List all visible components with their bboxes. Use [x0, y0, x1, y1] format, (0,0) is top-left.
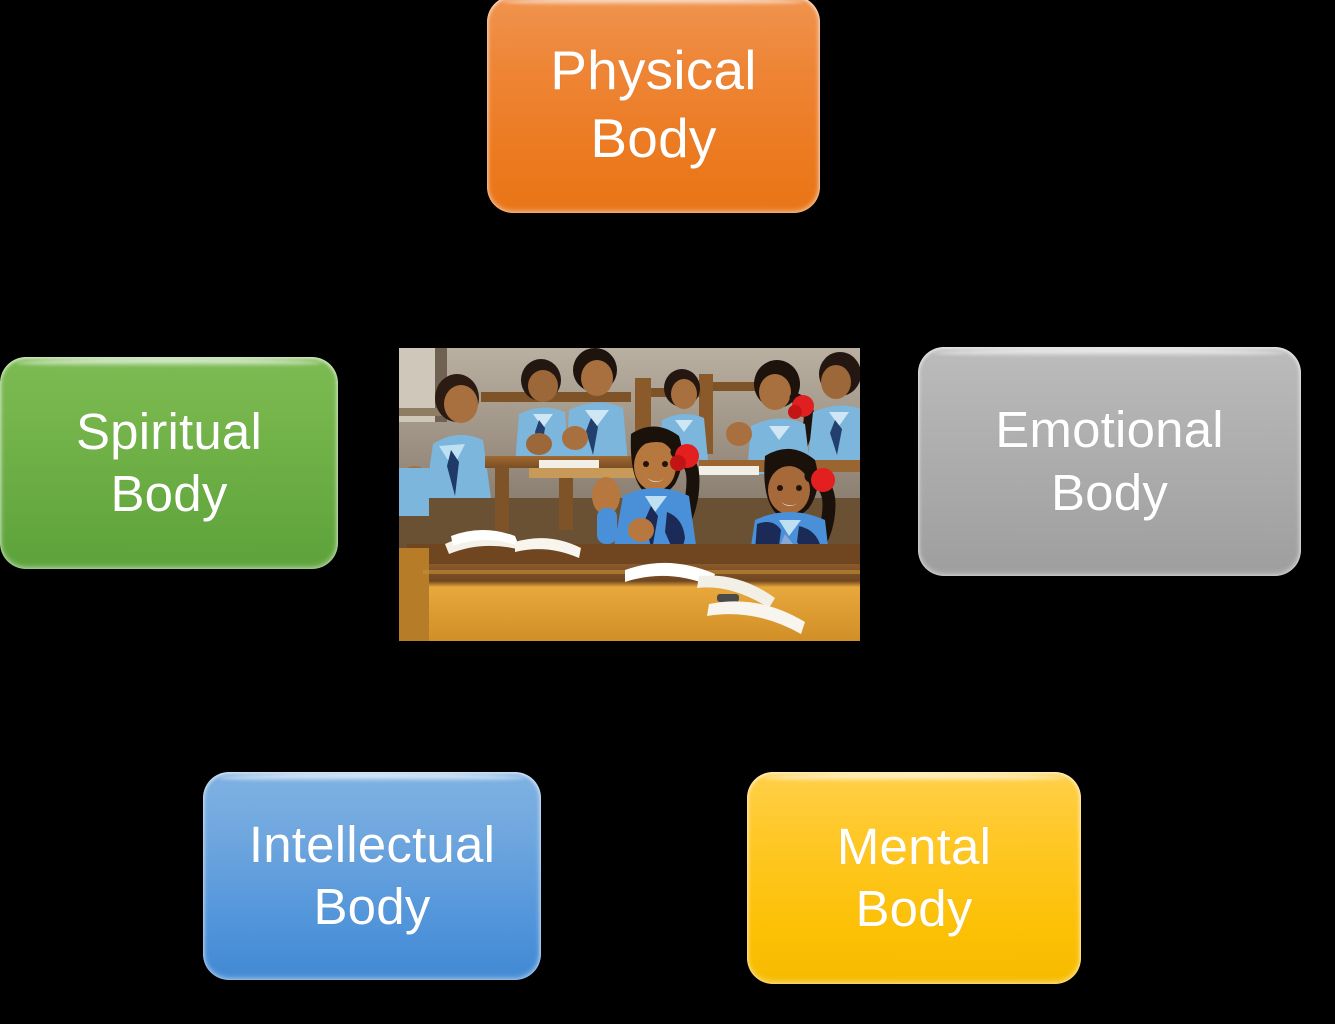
node-physical-body[interactable]: PhysicalBody: [487, 0, 820, 213]
classroom-photo: [399, 348, 860, 641]
node-emotional-body-label: EmotionalBody: [985, 399, 1234, 523]
node-intellectual-body-line2: Body: [313, 878, 430, 935]
node-mental-body-label: MentalBody: [827, 816, 1001, 940]
node-emotional-body-line2: Body: [1051, 464, 1168, 521]
node-emotional-body-line1: Emotional: [995, 401, 1224, 458]
node-intellectual-body-line1: Intellectual: [249, 816, 495, 873]
node-mental-body[interactable]: MentalBody: [747, 772, 1081, 984]
node-spiritual-body-line2: Body: [110, 465, 227, 522]
node-physical-body-line2: Body: [590, 107, 716, 169]
node-spiritual-body-label: SpiritualBody: [66, 401, 272, 525]
node-mental-body-line2: Body: [855, 880, 972, 937]
node-spiritual-body-line1: Spiritual: [76, 403, 262, 460]
node-mental-body-line1: Mental: [837, 818, 991, 875]
node-emotional-body[interactable]: EmotionalBody: [918, 347, 1301, 576]
node-spiritual-body[interactable]: SpiritualBody: [0, 357, 338, 569]
node-intellectual-body[interactable]: IntellectualBody: [203, 772, 541, 980]
diagram-canvas: PhysicalBody SpiritualBody EmotionalBody…: [0, 0, 1335, 1024]
node-physical-body-label: PhysicalBody: [540, 37, 766, 171]
node-intellectual-body-label: IntellectualBody: [239, 814, 505, 938]
node-physical-body-line1: Physical: [550, 39, 756, 101]
classroom-photo-illustration: [399, 348, 860, 641]
